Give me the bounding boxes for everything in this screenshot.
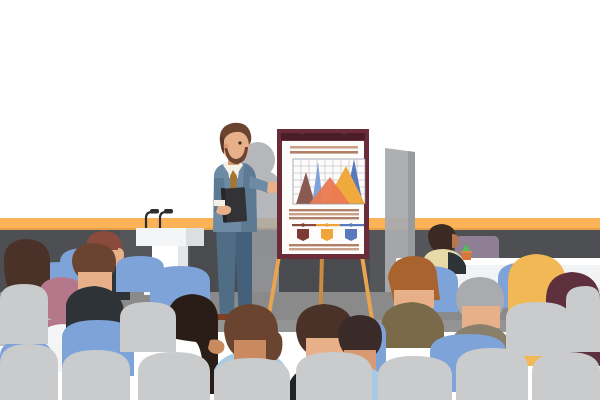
microphone-head-icon [164,209,173,214]
seat-gray-front [378,356,452,400]
microphone-head-icon [150,209,159,214]
easel-clip-right [342,130,347,134]
easel-body-line [289,209,359,211]
presentation-scene-illustration: Business Conference Presentation Present… [0,0,600,400]
seat-gray-front [214,358,290,400]
seat-gray [506,302,570,356]
presenter-cuff [214,200,225,206]
seat-gray [0,284,48,344]
tag-node [301,223,305,227]
easel-chart [293,159,365,204]
easel-heading-line [290,151,358,154]
tag-node [349,223,353,227]
presenter-eye [238,141,241,144]
seat-gray-front [138,352,210,400]
easel-heading-line [290,146,358,149]
seat-gray [120,302,176,352]
lectern-desktop-side [186,228,204,246]
scene-svg [0,0,600,400]
tag-node [325,223,329,227]
seat-gray-front [62,350,130,400]
easel-clip-left [299,130,304,134]
easel-tag-diagram [292,223,364,241]
seat-gray-front [532,352,600,400]
seat-gray-front [0,344,58,400]
easel-clip-bar [281,133,365,140]
seat-gray-front [296,352,372,400]
easel-body-line [289,217,359,219]
presenter-ear [224,144,229,149]
easel-body-line [289,213,359,215]
plant-pot [462,252,471,260]
presenter-hand-folder [216,205,231,215]
plant-pot-rim [461,251,472,253]
seat-gray [566,286,600,352]
